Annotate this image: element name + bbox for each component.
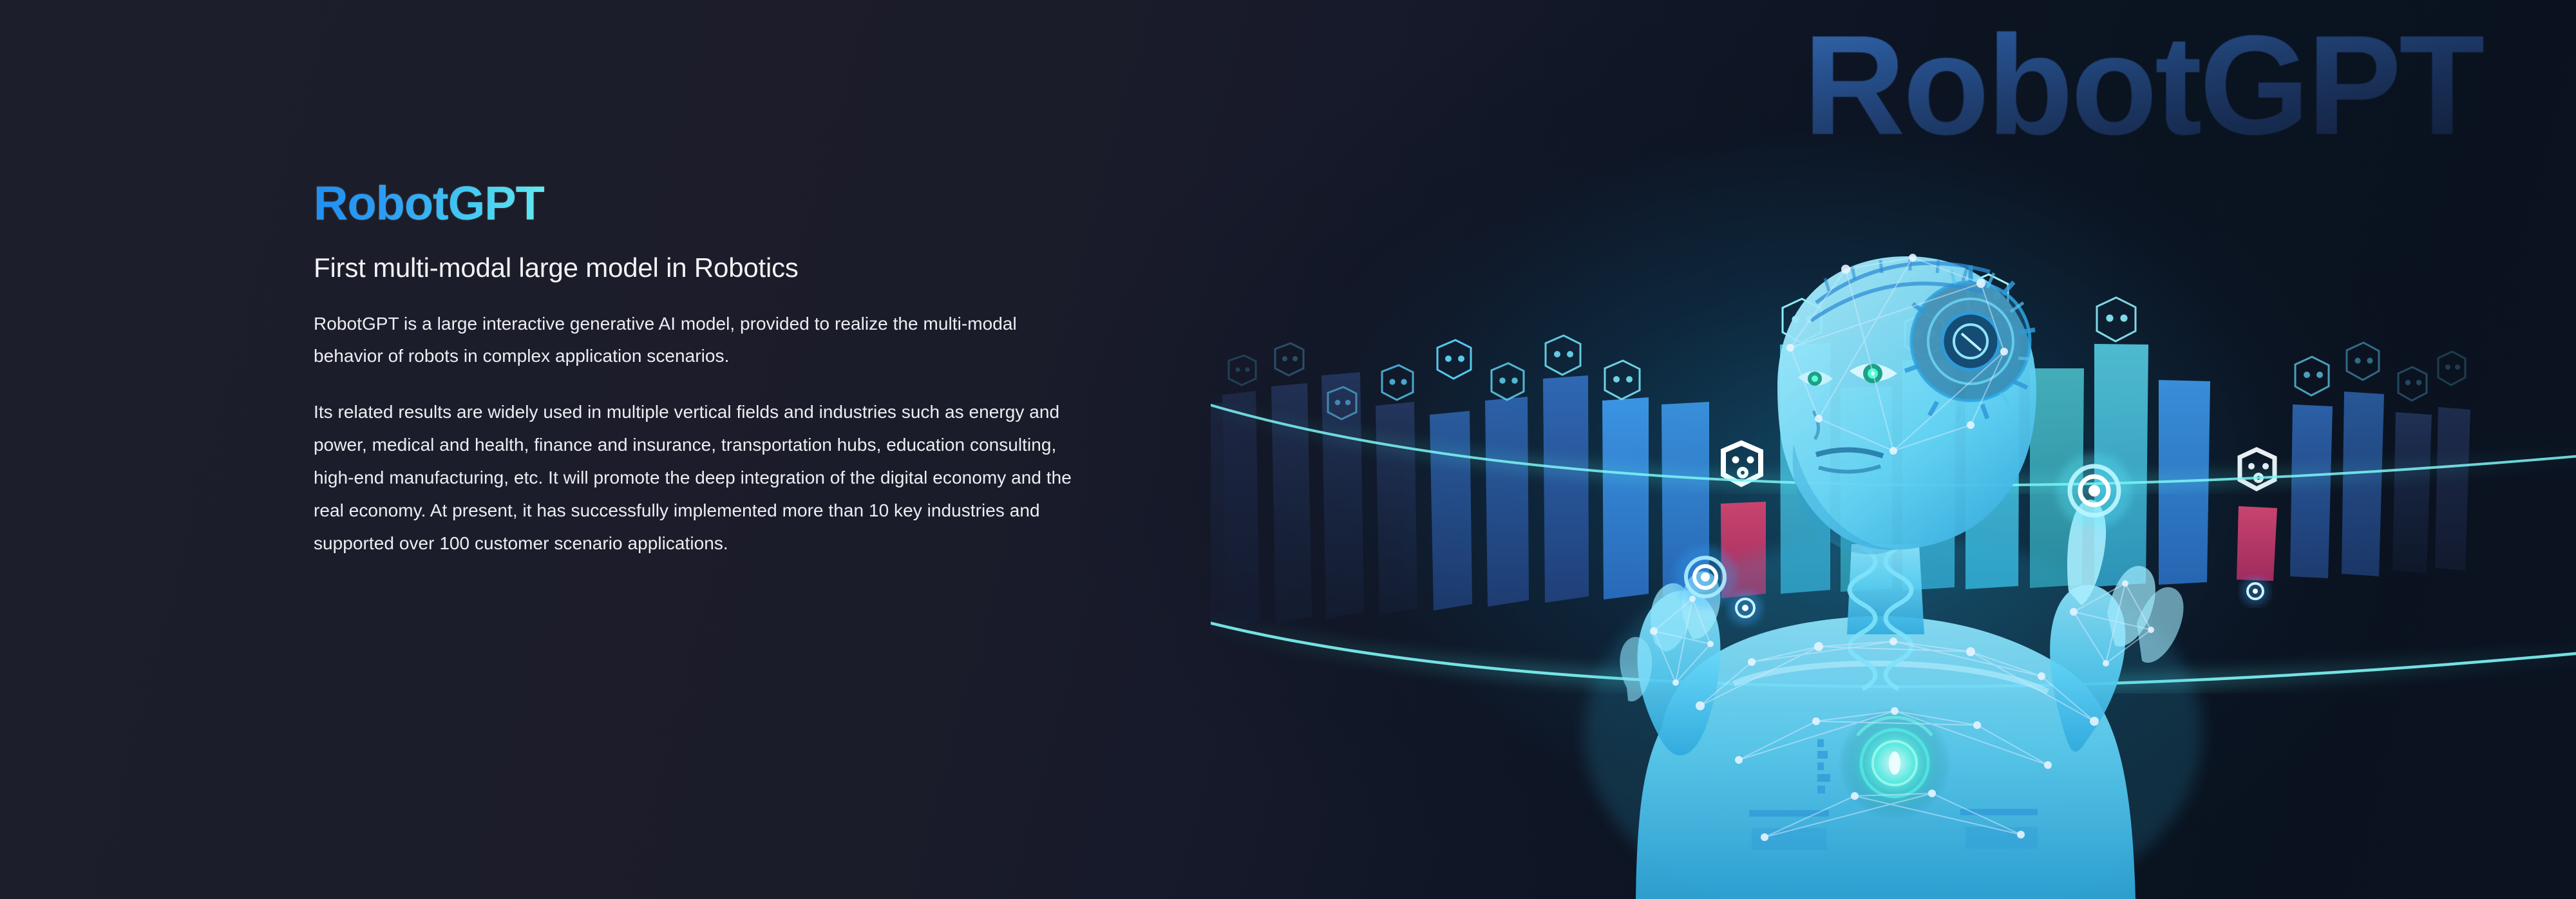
robot-face-icon [1229, 355, 1256, 385]
bar-item [1430, 411, 1472, 610]
glow-orb-right [2057, 453, 2132, 528]
bar-item [1543, 375, 1589, 603]
robot-face-icon [1546, 336, 1580, 375]
robot-face-icon [1437, 340, 1471, 379]
bar-item [1485, 397, 1529, 607]
glow-orb-left [1674, 546, 1736, 608]
robot-face-icon [2097, 298, 2136, 341]
hero-banner: RobotGPT First multi-modal large model i… [0, 0, 2576, 899]
robot-face-icon [2347, 343, 2379, 380]
bar-item [1602, 397, 1649, 600]
hero-paragraph-1: RobotGPT is a large interactive generati… [314, 308, 1077, 374]
bar-item [2290, 404, 2333, 578]
robot-face-icon [2295, 357, 2329, 395]
robot-face-icon [1382, 365, 1413, 400]
hero-illustration: RobotGPT [1211, 0, 2576, 899]
bar-item-highlight [2237, 506, 2277, 581]
robot-face-icon [1492, 363, 1524, 400]
hero-subtitle: First multi-modal large model in Robotic… [314, 252, 1215, 283]
page-title: RobotGPT [314, 179, 544, 227]
robot-scene [1211, 0, 2576, 899]
bar-item [1211, 391, 1260, 631]
robot-face-icon [1605, 361, 1640, 399]
hero-paragraph-2: Its related results are widely used in m… [314, 396, 1077, 560]
bar-item [2342, 392, 2384, 576]
robot-face-icon [1275, 343, 1303, 375]
bar-item [1376, 402, 1417, 615]
hero-text-panel: RobotGPT First multi-modal large model i… [314, 179, 1215, 560]
